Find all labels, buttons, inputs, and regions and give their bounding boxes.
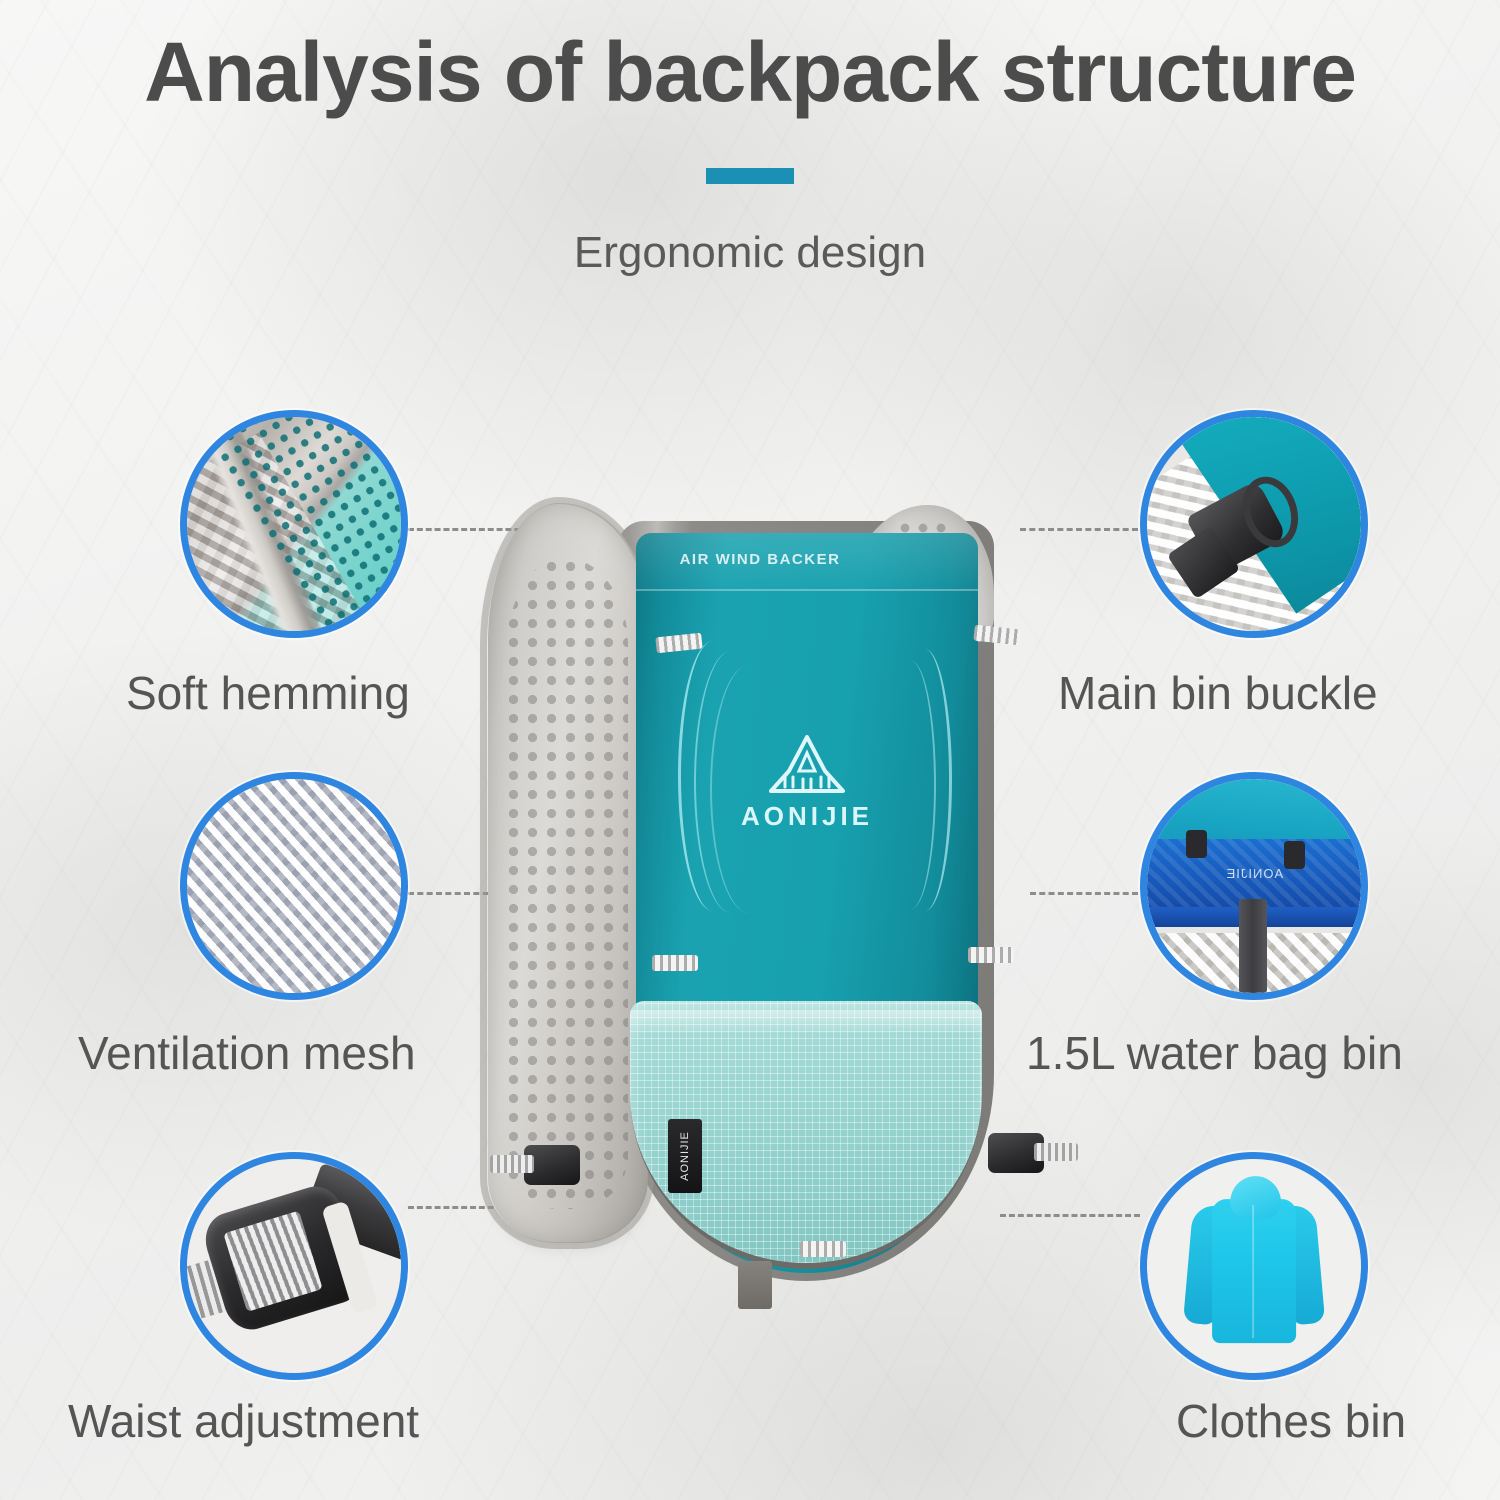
feature-label-clothes-bin: Clothes bin: [1176, 1394, 1406, 1448]
shoulder-strap-left-binding: [480, 497, 654, 1249]
side-brand-tag: AONIJIE: [668, 1119, 702, 1193]
infographic-poster: Analysis of backpack structure Ergonomic…: [0, 0, 1500, 1500]
pocket-print-text: AIR WIND BACKER: [680, 551, 841, 568]
strap-loop-mid-left: [652, 955, 698, 971]
feature-circle-waist-adjustment[interactable]: [180, 1152, 408, 1380]
feature-circle-water-bag-bin[interactable]: AONIJIE: [1140, 772, 1368, 1000]
feature-label-soft-hemming: Soft hemming: [126, 666, 410, 720]
clothes-bin-photo: [1147, 1159, 1361, 1373]
chest-buckle-left: [524, 1145, 580, 1185]
feature-label-ventilation-mesh: Ventilation mesh: [78, 1026, 416, 1080]
pocket-elastic-band: [630, 1011, 982, 1033]
brand-name: AONIJIE: [741, 801, 873, 832]
water-bag-bin-photo: AONIJIE: [1147, 779, 1361, 993]
feature-label-main-bin-buckle: Main bin buckle: [1058, 666, 1378, 720]
side-brand-tag-text: AONIJIE: [679, 1131, 691, 1181]
woven-mesh-texture: [187, 779, 401, 993]
backpack-product-image: AONIJIE AIR WIND BACKER AONIJIE: [470, 485, 1050, 1295]
jacket-center-seam: [1252, 1205, 1254, 1338]
bladder-clip-left: [1186, 830, 1207, 858]
waist-adjustment-photo: [187, 1159, 401, 1373]
reflective-stripe-5: [886, 661, 936, 909]
jacket-hood: [1230, 1176, 1281, 1219]
feature-circle-clothes-bin[interactable]: [1140, 1152, 1368, 1380]
feature-label-water-bag-bin: 1.5L water bag bin: [1026, 1026, 1403, 1080]
feature-circle-main-bin-buckle[interactable]: [1140, 410, 1368, 638]
windbreaker-jacket-icon: [1179, 1176, 1329, 1356]
feature-circle-ventilation-mesh[interactable]: [180, 772, 408, 1000]
bottom-loop: [800, 1241, 846, 1257]
accent-divider-bar: [706, 168, 794, 184]
bladder-clip-right: [1284, 841, 1305, 869]
soft-hemming-photo: [187, 417, 401, 631]
page-title: Analysis of backpack structure: [0, 24, 1500, 121]
hanging-strap: [1239, 899, 1267, 993]
feature-label-waist-adjustment: Waist adjustment: [68, 1394, 419, 1448]
strap-loop-mid-right: [968, 947, 1014, 963]
brand-logo: AONIJIE: [741, 733, 873, 832]
mountain-peaks-icon: [755, 733, 859, 797]
bottom-strap: [738, 1261, 772, 1309]
main-bin-buckle-photo: [1147, 417, 1361, 631]
feature-circle-soft-hemming[interactable]: [180, 410, 408, 638]
chest-buckle-right: [988, 1133, 1044, 1173]
page-subtitle: Ergonomic design: [0, 228, 1500, 278]
ventilation-mesh-photo: [187, 779, 401, 993]
